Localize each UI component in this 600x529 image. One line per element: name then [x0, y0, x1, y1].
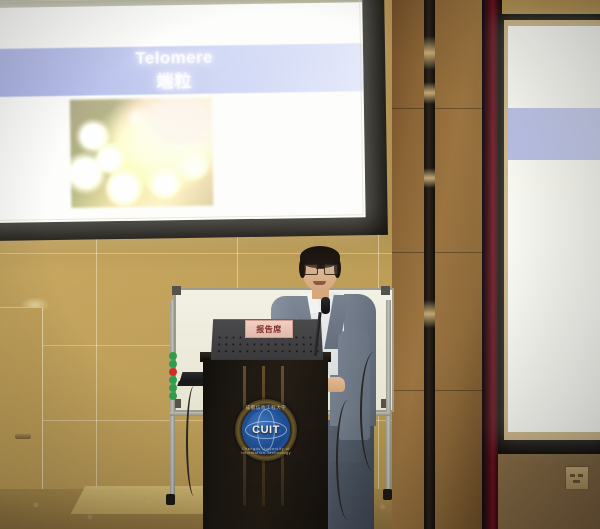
pillar-strip-gleam — [424, 82, 435, 104]
speaker-mouth — [313, 281, 326, 285]
eyeglass-lens — [304, 264, 318, 275]
speaker-hand — [326, 377, 345, 392]
projection-screen-main-frame: Telomere 端粒 — [0, 0, 388, 241]
wall-outlet[interactable] — [565, 466, 589, 490]
magnet-green[interactable] — [169, 376, 177, 384]
eyeglass-bridge — [316, 268, 324, 269]
eyeglass-lens — [324, 264, 338, 275]
pillar-seam — [392, 108, 484, 109]
magnet-green[interactable] — [169, 352, 177, 360]
outlet-slot — [578, 474, 583, 477]
logo-acronym: CUIT — [235, 424, 297, 436]
stone-pillar — [392, 0, 484, 529]
whiteboard-corner-bracket — [172, 286, 181, 295]
pillar-strip-gleam — [424, 300, 435, 328]
pillar-seam — [392, 390, 484, 391]
podium-sign: 报告席 — [245, 320, 293, 338]
logo-bottom-text: Chengdu University of Information Techno… — [235, 447, 297, 455]
cable — [186, 386, 202, 496]
projection-screen-secondary — [508, 26, 600, 432]
outlet-slot — [570, 474, 575, 477]
cable — [360, 352, 388, 472]
microphone-icon[interactable] — [321, 297, 330, 314]
cable — [336, 400, 360, 520]
screen-inner-border — [0, 0, 364, 221]
pillar-strip-gleam — [424, 168, 435, 188]
door[interactable] — [0, 307, 43, 508]
magnet-green[interactable] — [169, 384, 177, 392]
whiteboard-caster-wheel — [383, 489, 392, 500]
outlet-slot — [573, 480, 580, 483]
lecture-hall-photo: Telomere 端粒 — [0, 0, 600, 529]
whiteboard-caster-wheel — [166, 494, 175, 505]
pillar-metal-strip — [424, 0, 435, 529]
eyeglasses-icon — [304, 264, 336, 273]
pillar-strip-gleam — [424, 36, 435, 70]
magnet-red[interactable] — [169, 368, 177, 376]
wall-tile-seam — [96, 215, 97, 529]
wall-tile-seam — [0, 253, 400, 254]
magnet-green[interactable] — [169, 360, 177, 368]
podium-sign-label: 报告席 — [256, 324, 282, 335]
magnet-green[interactable] — [169, 392, 177, 400]
screen-glare-secondary — [508, 26, 600, 432]
pillar-seam — [392, 252, 484, 253]
university-logo: 成都信息工程大学 CUIT Chengdu University of Info… — [235, 399, 297, 461]
door-handle-icon[interactable] — [15, 434, 31, 439]
whiteboard-corner-bracket — [381, 286, 390, 295]
